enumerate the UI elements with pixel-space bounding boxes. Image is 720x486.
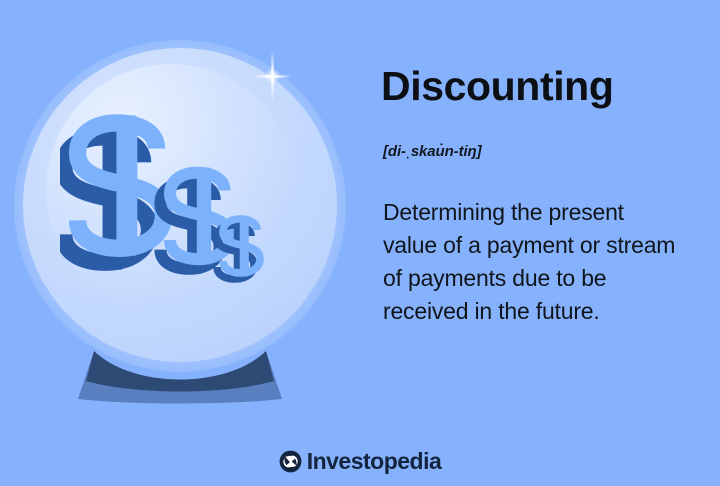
dollar-signs-group [60, 112, 290, 312]
investopedia-wordmark: Investopedia [307, 450, 442, 473]
definition-text-column: Discounting [di-ˌskau̇n-tiŋ] Determining… [381, 0, 701, 430]
definition-text: Determining the present value of a payme… [383, 196, 683, 328]
definition-card: Discounting [di-ˌskau̇n-tiŋ] Determining… [0, 0, 720, 486]
sparkle-icon [252, 50, 292, 102]
term-title: Discounting [381, 66, 613, 107]
pronunciation: [di-ˌskau̇n-tiŋ] [383, 143, 481, 160]
investopedia-z-swoosh-icon [279, 450, 302, 473]
crystal-ball-illustration [0, 0, 360, 430]
crystal-ball-stand [78, 345, 282, 405]
investopedia-logo[interactable]: Investopedia [0, 446, 720, 476]
